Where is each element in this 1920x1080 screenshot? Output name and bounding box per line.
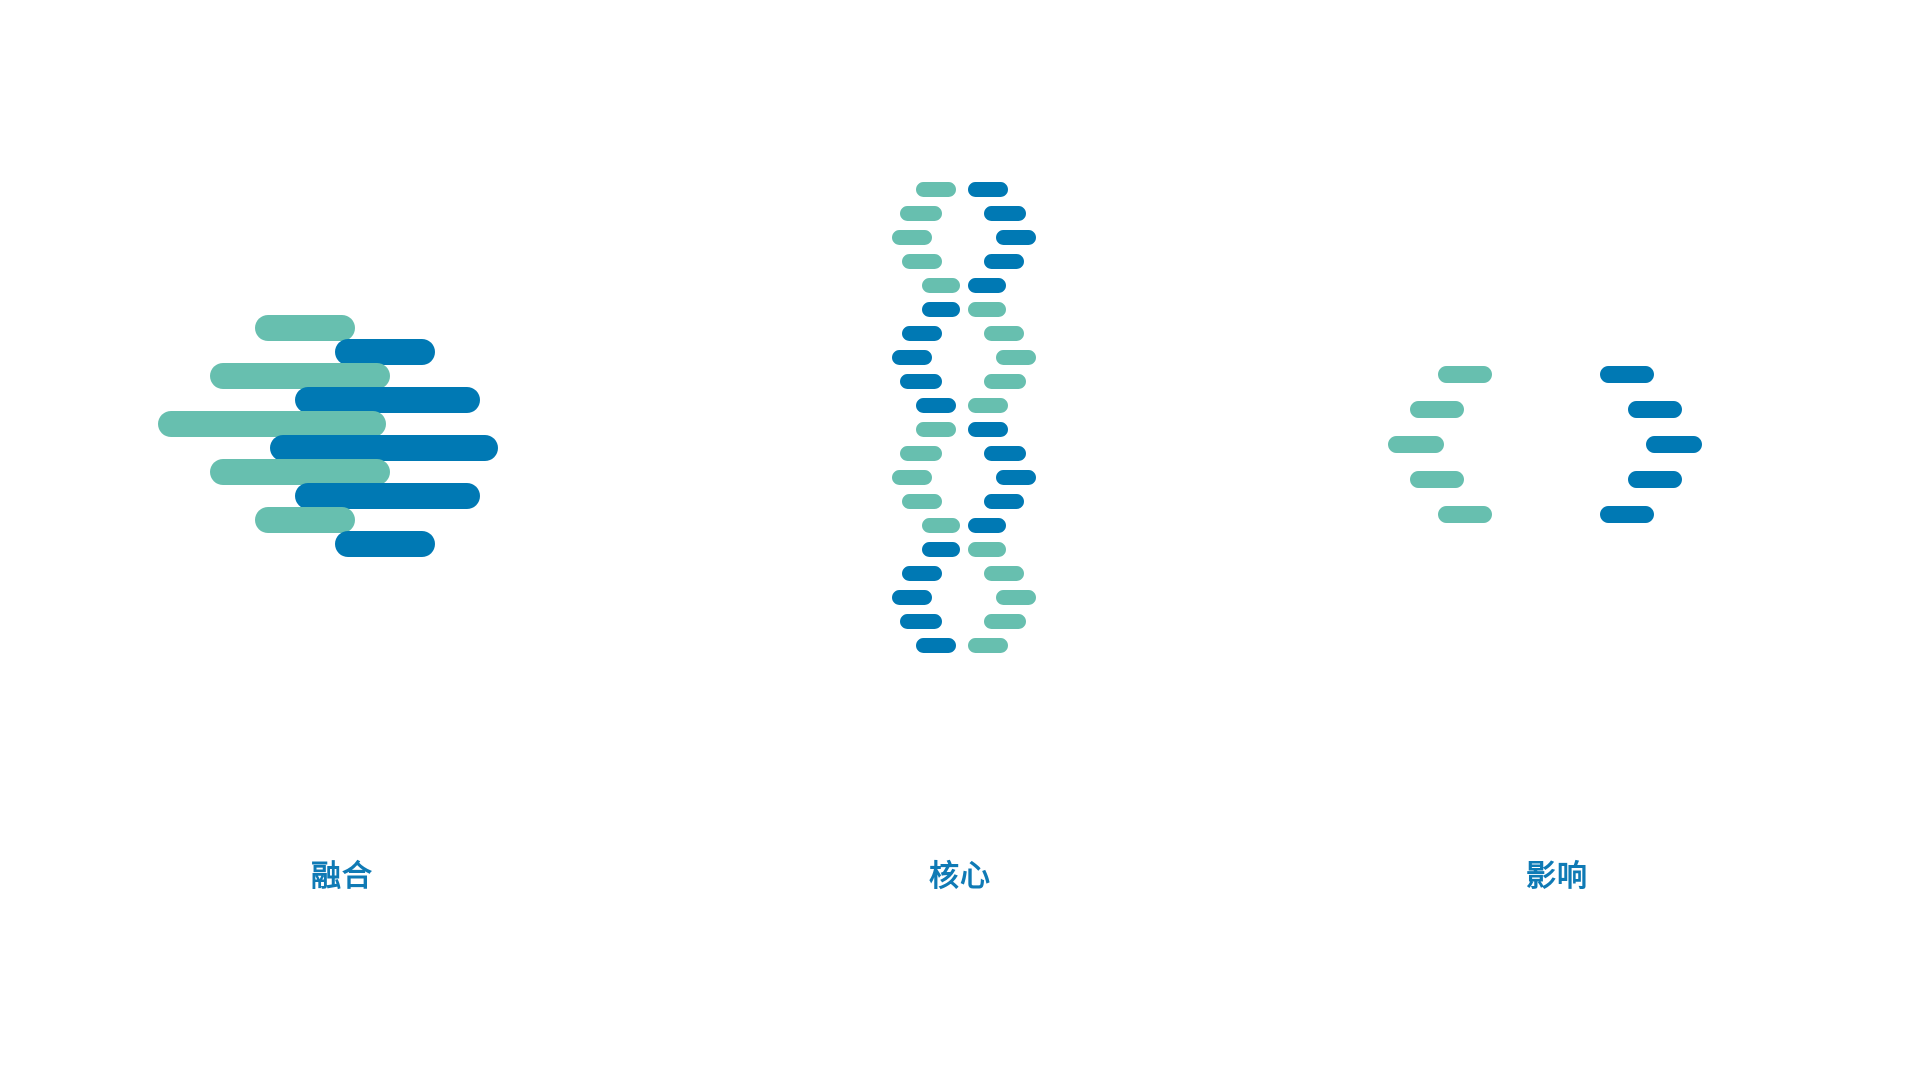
bar-segment xyxy=(968,518,1006,533)
bar-segment xyxy=(1628,401,1682,418)
bar-segment xyxy=(996,230,1036,245)
bar-segment xyxy=(916,398,956,413)
caption-fusion: 融合 xyxy=(192,862,492,892)
bar-segment xyxy=(335,531,435,557)
bar-segment xyxy=(916,638,956,653)
bar-segment xyxy=(968,542,1006,557)
bar-segment xyxy=(900,206,942,221)
bar-segment xyxy=(922,302,960,317)
bar-segment xyxy=(1600,366,1654,383)
bar-segment xyxy=(158,411,386,437)
bar-segment xyxy=(916,182,956,197)
bar-segment xyxy=(916,422,956,437)
bar-segment xyxy=(984,446,1026,461)
bar-segment xyxy=(210,363,390,389)
bar-segment xyxy=(1388,436,1444,453)
bar-segment xyxy=(996,350,1036,365)
bar-segment xyxy=(270,435,498,461)
bar-segment xyxy=(255,315,355,341)
illustration-stage: 融合核心影响 xyxy=(0,0,1920,1080)
bar-segment xyxy=(922,518,960,533)
bar-segment xyxy=(902,494,942,509)
bar-segment xyxy=(984,614,1026,629)
bar-segment xyxy=(1438,506,1492,523)
caption-impact: 影响 xyxy=(1407,862,1707,892)
bar-segment xyxy=(968,278,1006,293)
bar-segment xyxy=(1600,506,1654,523)
bar-segment xyxy=(922,542,960,557)
bar-segment xyxy=(984,494,1024,509)
bar-segment xyxy=(892,230,932,245)
bar-segment xyxy=(968,638,1008,653)
bar-segment xyxy=(255,507,355,533)
bar-segment xyxy=(984,254,1024,269)
bar-segment xyxy=(902,326,942,341)
bar-segment xyxy=(892,470,932,485)
bar-segment xyxy=(922,278,960,293)
bar-segment xyxy=(900,374,942,389)
bar-segment xyxy=(1410,401,1464,418)
bar-segment xyxy=(1438,366,1492,383)
bar-segment xyxy=(984,206,1026,221)
bar-segment xyxy=(892,590,932,605)
bar-segment xyxy=(335,339,435,365)
caption-core: 核心 xyxy=(810,862,1110,892)
bar-segment xyxy=(892,350,932,365)
bar-segment xyxy=(968,302,1006,317)
bar-segment xyxy=(900,614,942,629)
bar-segment xyxy=(984,374,1026,389)
bar-segment xyxy=(984,566,1024,581)
bar-segment xyxy=(902,254,942,269)
bar-segment xyxy=(210,459,390,485)
bar-segment xyxy=(1628,471,1682,488)
bar-segment xyxy=(984,326,1024,341)
bar-segment xyxy=(1646,436,1702,453)
bar-segment xyxy=(968,182,1008,197)
bar-segment xyxy=(900,446,942,461)
bar-segment xyxy=(295,387,480,413)
bar-segment xyxy=(996,590,1036,605)
bar-segment xyxy=(902,566,942,581)
bar-segment xyxy=(1410,471,1464,488)
bar-segment xyxy=(968,422,1008,437)
bar-segment xyxy=(968,398,1008,413)
bar-segment xyxy=(996,470,1036,485)
bar-segment xyxy=(295,483,480,509)
